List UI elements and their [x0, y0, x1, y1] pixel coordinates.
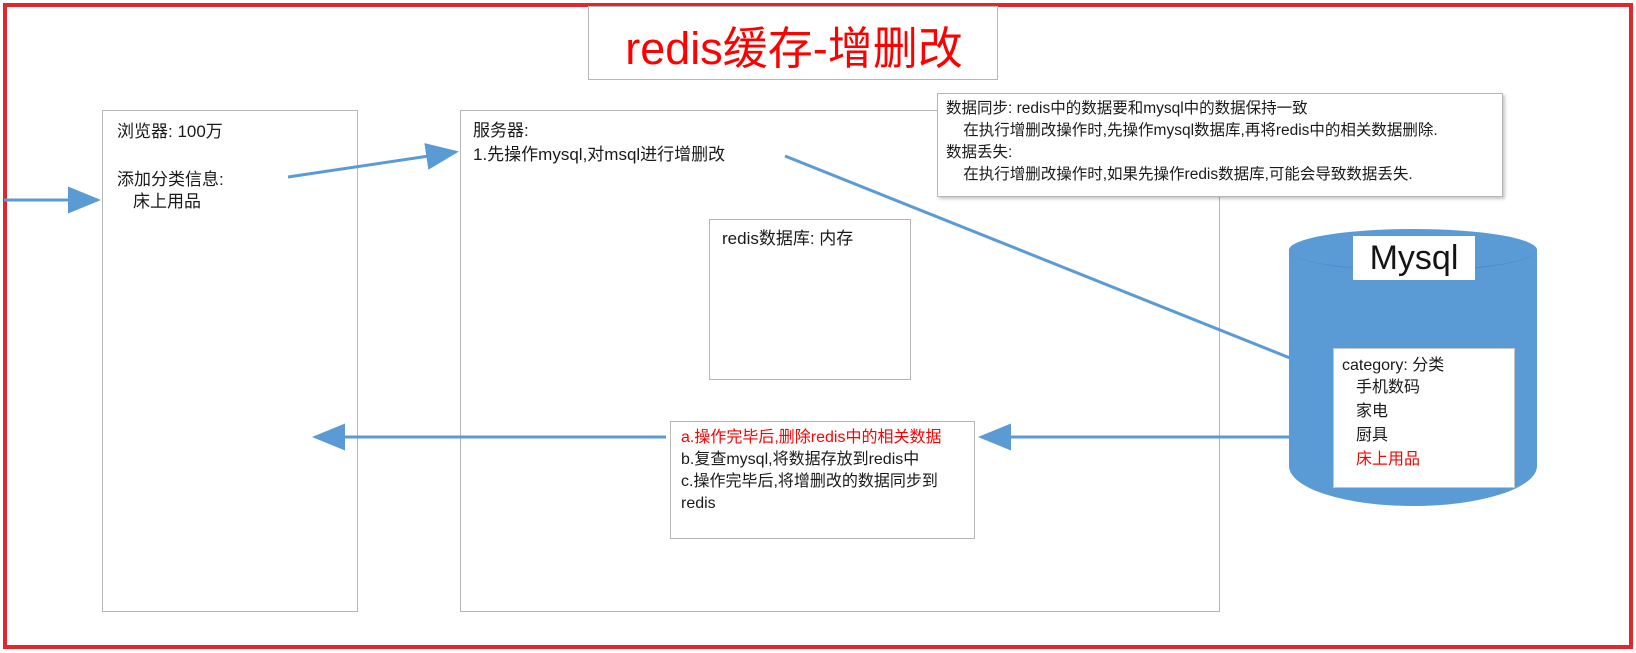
diagram-canvas: redis缓存-增删改 浏览器: 100万 添加分类信息: 床上用品 服务器: … [0, 0, 1636, 653]
redis-store-label: redis数据库: 内存 [722, 228, 853, 251]
step-c-continued: redis [681, 493, 716, 515]
mysql-label-box: Mysql [1353, 236, 1475, 280]
browser-box: 浏览器: 100万 添加分类信息: 床上用品 [102, 110, 358, 612]
note-line-loss-detail: 在执行增删改操作时,如果先操作redis数据库,可能会导致数据丢失. [946, 165, 1413, 186]
steps-box: a.操作完毕后,删除redis中的相关数据 b.复查mysql,将数据存放到re… [670, 421, 975, 539]
step-a: a.操作完毕后,删除redis中的相关数据 [681, 427, 941, 449]
category-title: category: 分类 [1342, 355, 1444, 377]
step-b: b.复查mysql,将数据存放到redis中 [681, 449, 919, 471]
server-step-1: 1.先操作mysql,对msql进行增删改 [473, 144, 725, 167]
step-c: c.操作完毕后,将增删改的数据同步到 [681, 471, 938, 493]
server-title: 服务器: [473, 120, 529, 143]
browser-action-value: 床上用品 [133, 191, 201, 214]
note-line-loss-title: 数据丢失: [946, 143, 1012, 164]
category-table-box: category: 分类 手机数码 家电 厨具 床上用品 [1333, 348, 1515, 488]
category-item-1: 家电 [1356, 401, 1388, 423]
category-item-0: 手机数码 [1356, 377, 1420, 399]
title-box: redis缓存-增删改 [588, 6, 998, 80]
browser-title: 浏览器: 100万 [117, 121, 223, 144]
sync-note-box: 数据同步: redis中的数据要和mysql中的数据保持一致 在执行增删改操作时… [937, 93, 1503, 197]
note-line-sync-title: 数据同步: redis中的数据要和mysql中的数据保持一致 [946, 99, 1308, 120]
page-title: redis缓存-增删改 [589, 7, 999, 81]
mysql-label: Mysql [1370, 239, 1459, 278]
browser-action-label: 添加分类信息: [117, 169, 224, 192]
category-item-2: 厨具 [1356, 425, 1388, 447]
note-line-sync-detail: 在执行增删改操作时,先操作mysql数据库,再将redis中的相关数据删除. [946, 121, 1438, 142]
redis-store-box: redis数据库: 内存 [709, 219, 911, 380]
category-item-3: 床上用品 [1356, 449, 1420, 471]
